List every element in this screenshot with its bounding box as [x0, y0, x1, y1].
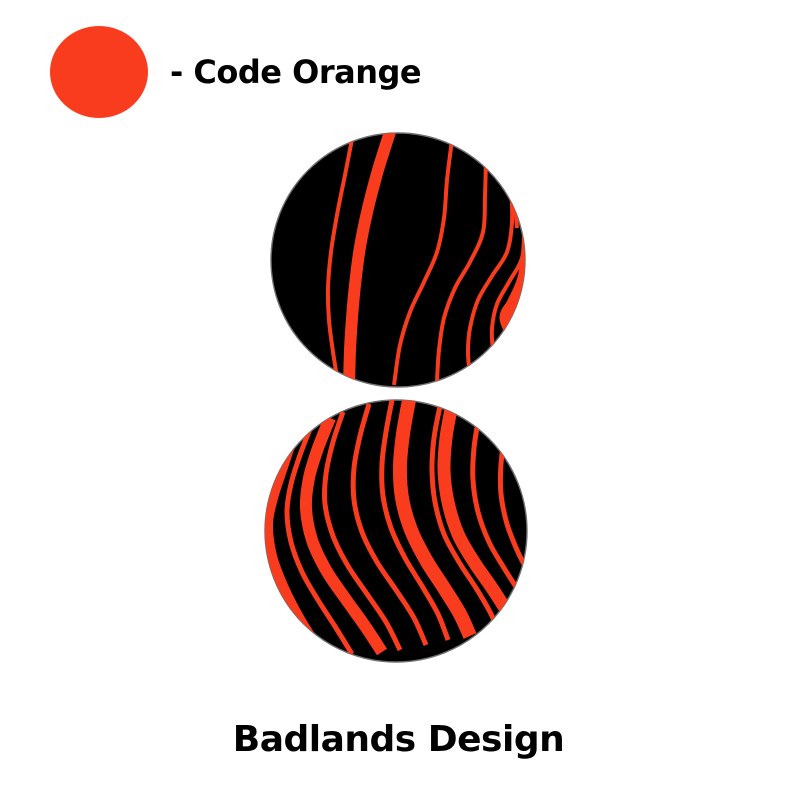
legend-label: - Code Orange: [170, 56, 421, 88]
disc-bottom: [265, 400, 528, 662]
background: [0, 0, 797, 797]
legend-row: - Code Orange: [50, 26, 650, 118]
artwork-canvas: [0, 0, 797, 797]
brand-title: Badlands Design: [0, 722, 797, 758]
code-orange-swatch-icon: [50, 26, 148, 118]
